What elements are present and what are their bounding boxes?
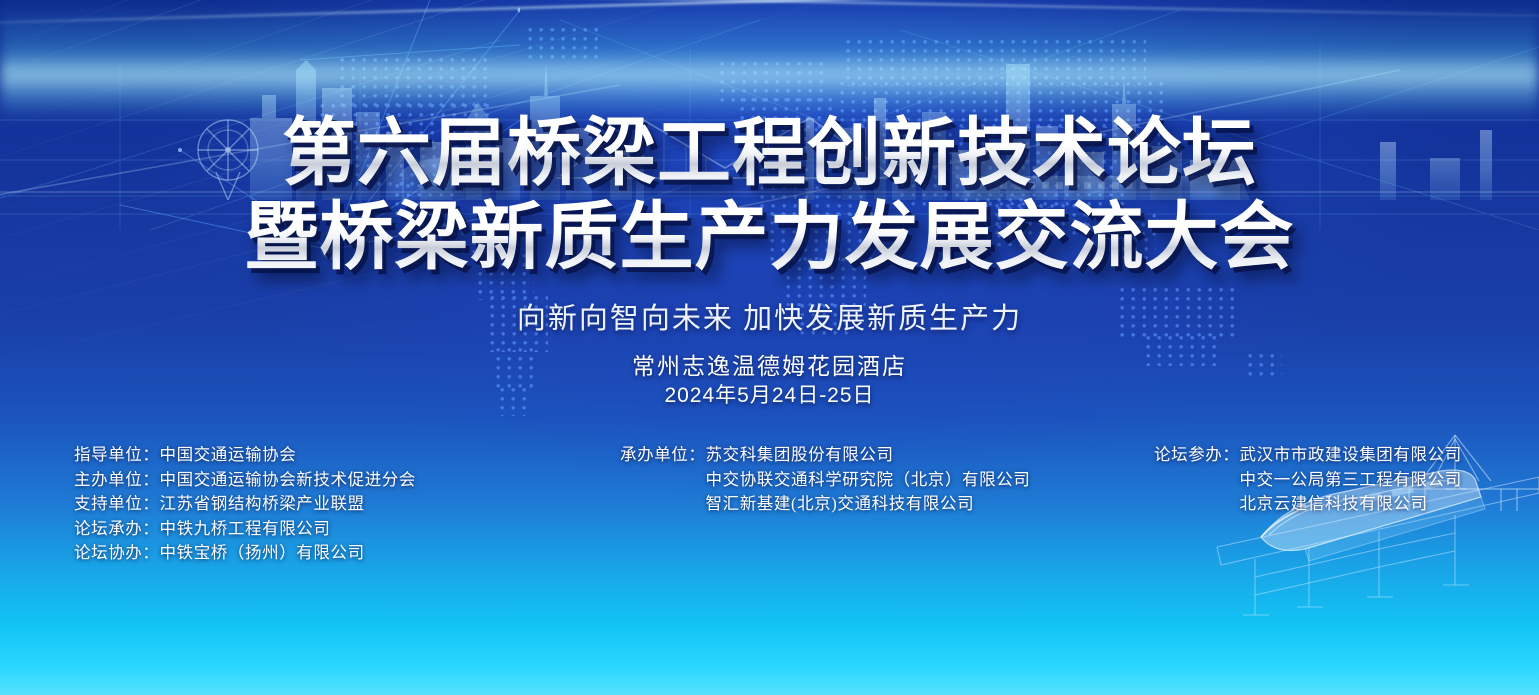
glow-streak-2 [0,0,1539,20]
organizer-row: 支持单位：江苏省钢结构桥梁产业联盟 [74,492,416,517]
organizer-value: 中铁九桥工程有限公司 [160,517,331,542]
organizer-value: 中铁宝桥（扬州）有限公司 [160,541,365,566]
organizer-label: 论坛协办： [74,541,160,566]
map-region-dots [720,62,830,102]
organizer-column-right: 论坛参办：武汉市市政建设集团有限公司论坛参办：中交一公局第三工程有限公司论坛参办… [1154,443,1462,517]
organizer-label: 主办单位： [74,468,160,493]
organizer-row: 论坛协办：中铁宝桥（扬州）有限公司 [74,541,416,566]
organizer-label: 论坛参办： [1154,443,1240,468]
bottom-glow-band [0,0,1539,120]
organizer-value: 江苏省钢结构桥梁产业联盟 [160,492,365,517]
title-line-2: 暨桥梁新质生产力发展交流大会 [0,196,1539,280]
organizer-row: 承办单位：智汇新基建(北京)交通科技有限公司 [620,492,1030,517]
organizer-row: 承办单位：苏交科集团股份有限公司 [620,443,1030,468]
glow-streak-1 [0,0,1539,28]
event-venue-block: 常州志逸温德姆花园酒店 2024年5月24日-25日 [0,352,1539,410]
event-title: 第六届桥梁工程创新技术论坛 暨桥梁新质生产力发展交流大会 [0,112,1539,280]
organizer-column-left: 指导单位：中国交通运输协会主办单位：中国交通运输协会新技术促进分会支持单位：江苏… [74,443,416,566]
organizer-value: 北京云建信科技有限公司 [1240,492,1428,517]
organizer-value: 中交一公局第三工程有限公司 [1240,468,1462,493]
organizer-value: 苏交科集团股份有限公司 [706,443,894,468]
light-streak [0,0,962,103]
organizer-label: 承办单位： [620,443,706,468]
map-region-dots [528,28,598,62]
map-region-dots [340,58,490,110]
organizer-row: 论坛参办：中交一公局第三工程有限公司 [1154,468,1462,493]
organizer-row: 论坛参办：北京云建信科技有限公司 [1154,492,1462,517]
light-streak [0,0,937,31]
organizer-lists: 指导单位：中国交通运输协会主办单位：中国交通运输协会新技术促进分会支持单位：江苏… [0,443,1539,573]
organizer-row: 指导单位：中国交通运输协会 [74,443,416,468]
organizer-label: 指导单位： [74,443,160,468]
organizer-value: 中国交通运输协会 [160,443,297,468]
organizer-row: 论坛承办：中铁九桥工程有限公司 [74,517,416,542]
organizer-label: 支持单位： [74,492,160,517]
event-slogan: 向新向智向未来 加快发展新质生产力 [0,295,1539,337]
event-date: 2024年5月24日-25日 [0,382,1539,410]
conference-banner: 第六届桥梁工程创新技术论坛 暨桥梁新质生产力发展交流大会 向新向智向未来 加快发… [0,0,1539,695]
light-streak [0,0,904,67]
organizer-value: 武汉市市政建设集团有限公司 [1240,443,1462,468]
organizer-row: 主办单位：中国交通运输协会新技术促进分会 [74,468,416,493]
organizer-value: 中国交通运输协会新技术促进分会 [160,468,417,493]
venue-name: 常州志逸温德姆花园酒店 [0,352,1539,382]
organizer-value: 智汇新基建(北京)交通科技有限公司 [706,492,975,517]
organizer-row: 论坛参办：武汉市市政建设集团有限公司 [1154,443,1462,468]
map-region-dots [846,40,1146,86]
title-line-1: 第六届桥梁工程创新技术论坛 [0,112,1539,196]
organizer-column-center: 承办单位：苏交科集团股份有限公司承办单位：中交协联交通科学研究院（北京）有限公司… [620,443,1030,517]
organizer-row: 承办单位：中交协联交通科学研究院（北京）有限公司 [620,468,1030,493]
organizer-value: 中交协联交通科学研究院（北京）有限公司 [706,468,1031,493]
organizer-label: 论坛承办： [74,517,160,542]
